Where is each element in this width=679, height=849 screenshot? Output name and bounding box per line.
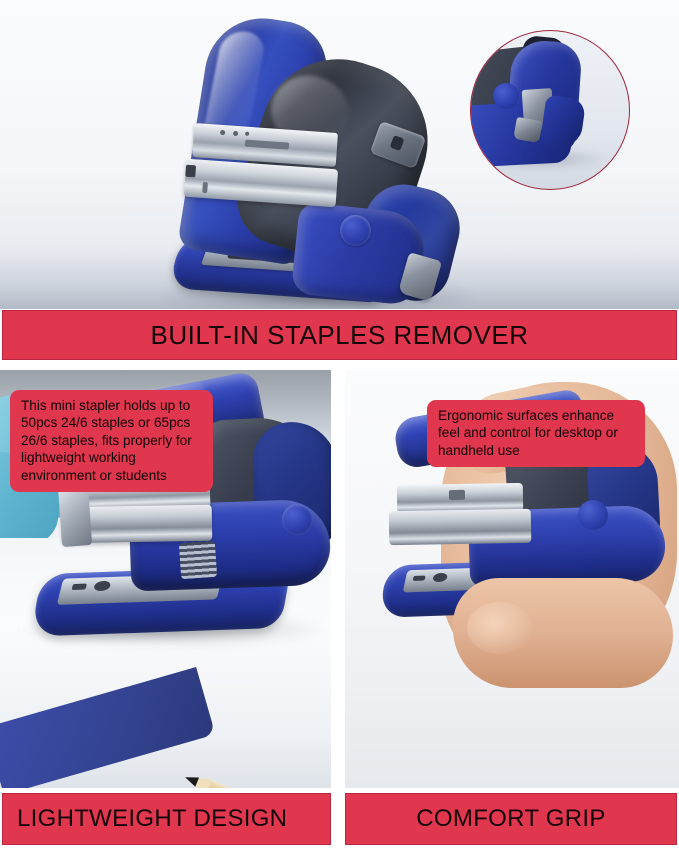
stapler-lower-chrome-arm — [389, 509, 532, 545]
banner-label: BUILT-IN STAPLES REMOVER — [150, 320, 528, 351]
stapler-anvil-marks — [70, 579, 133, 595]
magazine-latch — [449, 490, 465, 500]
main-stapler-product — [175, 18, 455, 303]
product-feature-image: BUILT-IN STAPLES REMOVER — [0, 0, 679, 849]
hero-product-panel — [0, 0, 679, 309]
hand-knuckle-highlight — [467, 602, 533, 654]
stapler-pivot-button — [340, 215, 371, 246]
inset-pivot-button — [493, 83, 519, 109]
callout-lightweight-specs: This mini stapler holds up to 50pcs 24/6… — [10, 390, 213, 492]
callout-ergonomic-surfaces: Ergonomic surfaces enhance feel and cont… — [427, 400, 645, 467]
stapler-pivot-button — [578, 500, 608, 530]
stapler-spring — [179, 541, 217, 579]
staple-remover-detail-inset — [470, 30, 630, 190]
stapler-pivot-button — [282, 504, 313, 535]
caption-label: COMFORT GRIP — [416, 805, 605, 833]
inset-nose — [540, 94, 587, 149]
caption-bar-comfort-grip: COMFORT GRIP — [345, 793, 677, 845]
caption-bar-lightweight-design: LIGHTWEIGHT DESIGN — [2, 793, 331, 845]
caption-label: LIGHTWEIGHT DESIGN — [17, 805, 287, 833]
inset-remover-claw — [513, 117, 542, 143]
stapler-front-chrome-block — [58, 483, 92, 547]
feature-banner-staples-remover: BUILT-IN STAPLES REMOVER — [2, 310, 677, 360]
stapler-anvil-marks — [412, 571, 469, 585]
